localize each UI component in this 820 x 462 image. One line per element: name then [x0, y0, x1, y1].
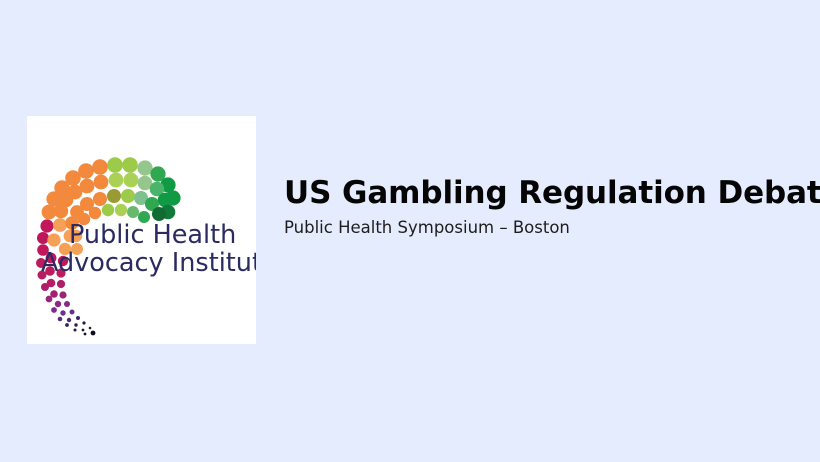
slide-subtitle: Public Health Symposium – Boston: [284, 217, 794, 239]
logo-card: Public Health Advocacy Institute Public …: [27, 116, 256, 344]
logo-wordmark-line2: Advocacy Institute: [41, 248, 256, 278]
title-block: US Gambling Regulation Debate Public Hea…: [284, 176, 794, 239]
slide-canvas: Public Health Advocacy Institute Public …: [0, 0, 820, 462]
phai-logo-icon: Public Health Advocacy Institute: [27, 116, 256, 344]
logo-wordmark-line1: Public Health: [69, 220, 236, 250]
slide-title: US Gambling Regulation Debate: [284, 176, 794, 210]
